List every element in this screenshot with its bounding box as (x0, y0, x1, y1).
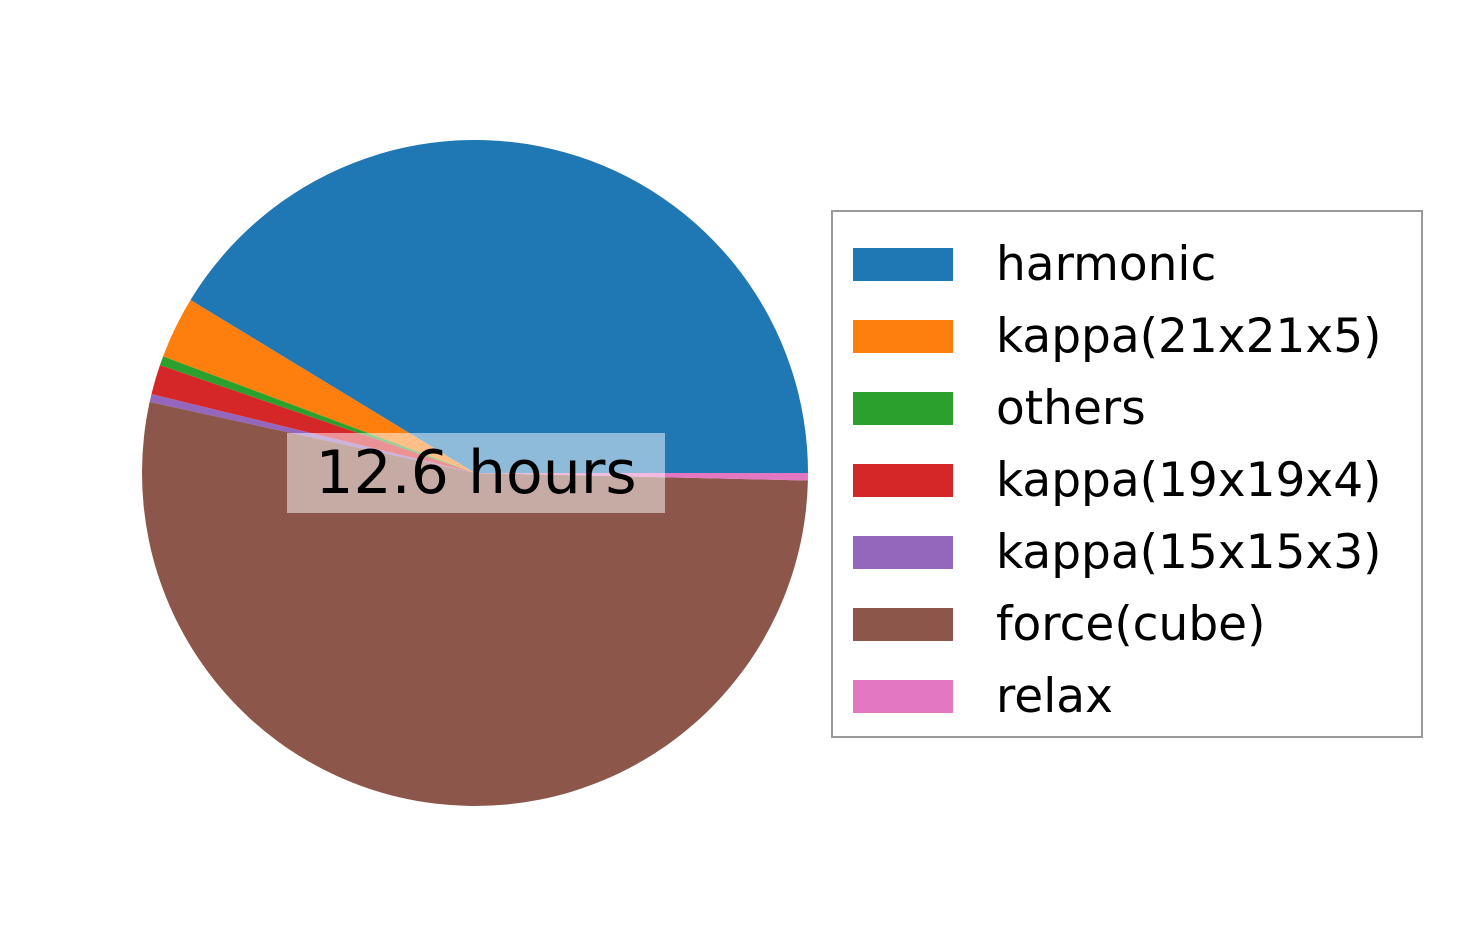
legend-item-label: force(cube) (996, 601, 1265, 648)
legend-item-label: relax (996, 673, 1113, 720)
legend-color-swatch (853, 320, 953, 353)
figure-canvas: 12.6 hours harmonickappa(21x21x5)othersk… (0, 0, 1483, 951)
legend-item[interactable]: harmonic (853, 228, 1421, 300)
legend-item-label: kappa(21x21x5) (996, 313, 1381, 360)
legend-box: harmonickappa(21x21x5)otherskappa(19x19x… (831, 210, 1423, 738)
pie-chart (142, 140, 808, 806)
legend-item-label: others (996, 385, 1146, 432)
legend-color-swatch (853, 608, 953, 641)
legend-item[interactable]: kappa(21x21x5) (853, 300, 1421, 372)
legend-color-swatch (853, 680, 953, 713)
legend-color-swatch (853, 248, 953, 281)
legend-item-label: kappa(15x15x3) (996, 529, 1381, 576)
legend-color-swatch (853, 464, 953, 497)
legend-item[interactable]: kappa(15x15x3) (853, 516, 1421, 588)
pie-svg (142, 140, 808, 806)
pie-slice-group (142, 140, 808, 806)
legend-item[interactable]: kappa(19x19x4) (853, 444, 1421, 516)
legend-color-swatch (853, 392, 953, 425)
legend-item[interactable]: force(cube) (853, 588, 1421, 660)
legend-color-swatch (853, 536, 953, 569)
legend-item[interactable]: others (853, 372, 1421, 444)
legend-items: harmonickappa(21x21x5)otherskappa(19x19x… (833, 212, 1421, 736)
legend-item[interactable]: relax (853, 660, 1421, 732)
legend-item-label: kappa(19x19x4) (996, 457, 1381, 504)
legend-item-label: harmonic (996, 241, 1216, 288)
